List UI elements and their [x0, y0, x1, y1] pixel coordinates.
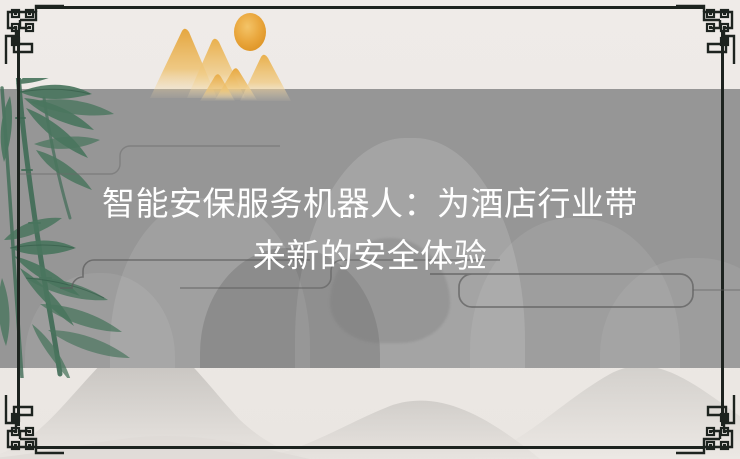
corner-ornament-bottom-right: [674, 393, 738, 457]
corner-ornament-bottom-left: [2, 393, 66, 457]
page-title-line-1: 智能安保服务机器人：为酒店行业带: [0, 178, 740, 230]
page-title-line-2: 来新的安全体验: [0, 230, 740, 282]
meander-corner-icon: [674, 393, 738, 457]
page-title: 智能安保服务机器人：为酒店行业带 来新的安全体验: [0, 178, 740, 282]
sun-mountains-svg: [145, 8, 315, 103]
golden-sun-mountains-illustration: [145, 8, 315, 103]
frame-line-bottom: [36, 446, 704, 449]
corner-ornament-top-left: [2, 2, 66, 66]
sun-shape: [234, 13, 266, 51]
frame-line-top: [36, 6, 704, 9]
meander-corner-icon: [674, 2, 738, 66]
meander-corner-icon: [2, 2, 66, 66]
meander-corner-icon: [2, 393, 66, 457]
corner-ornament-top-right: [674, 2, 738, 66]
gold-peak-4: [240, 55, 291, 101]
article-cover-poster: 智能安保服务机器人：为酒店行业带 来新的安全体验: [0, 0, 740, 459]
